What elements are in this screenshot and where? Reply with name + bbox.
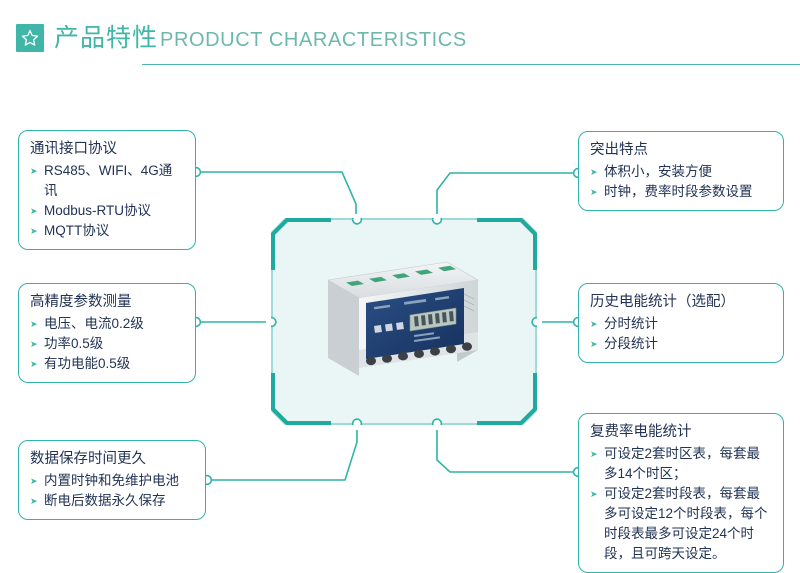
- info-box-communication[interactable]: 通讯接口协议 RS485、WIFI、4G通讯 Modbus-RTU协议 MQTT…: [18, 130, 196, 250]
- info-box-tariff[interactable]: 复费率电能统计 可设定2套时区表，每套最多14个时区； 可设定2套时段表，每套最…: [578, 413, 784, 573]
- page-header: 产品特性 PRODUCT CHARACTERISTICS: [16, 20, 784, 60]
- info-box-highlights[interactable]: 突出特点 体积小，安装方便 时钟，费率时段参数设置: [578, 131, 784, 211]
- bullet-item: 功率0.5级: [30, 334, 185, 354]
- frame-node-left: [271, 318, 276, 327]
- info-box-title: 数据保存时间更久: [30, 449, 195, 470]
- info-box-title: 复费率电能统计: [590, 422, 773, 443]
- info-box-title: 突出特点: [590, 140, 773, 161]
- bullet-item: 时钟，费率时段参数设置: [590, 182, 773, 202]
- star-badge-icon: [16, 24, 44, 52]
- frame-node-top-right: [433, 218, 442, 224]
- bullet-item: 断电后数据永久保存: [30, 491, 195, 511]
- info-box-bullets: 分时统计 分段统计: [590, 314, 773, 354]
- info-box-bullets: 内置时钟和免维护电池 断电后数据永久保存: [30, 471, 195, 511]
- bullet-item: MQTT协议: [30, 221, 185, 241]
- info-box-bullets: 体积小，安装方便 时钟，费率时段参数设置: [590, 162, 773, 202]
- info-box-history[interactable]: 历史电能统计（选配） 分时统计 分段统计: [578, 283, 784, 363]
- din-rail-energy-meter-image: [318, 258, 490, 382]
- page-title-cn: 产品特性: [54, 20, 158, 56]
- bullet-item: 可设定2套时区表，每套最多14个时区；: [590, 444, 773, 484]
- bullet-item: 分段统计: [590, 334, 773, 354]
- info-box-bullets: RS485、WIFI、4G通讯 Modbus-RTU协议 MQTT协议: [30, 161, 185, 241]
- bullet-item: 电压、电流0.2级: [30, 314, 185, 334]
- bullet-item: 有功电能0.5级: [30, 354, 185, 374]
- bullet-item: 体积小，安装方便: [590, 162, 773, 182]
- bullet-item: RS485、WIFI、4G通讯: [30, 161, 185, 201]
- info-box-accuracy[interactable]: 高精度参数测量 电压、电流0.2级 功率0.5级 有功电能0.5级: [18, 283, 196, 383]
- info-box-bullets: 电压、电流0.2级 功率0.5级 有功电能0.5级: [30, 314, 185, 374]
- info-box-title: 通讯接口协议: [30, 139, 185, 160]
- bullet-item: 内置时钟和免维护电池: [30, 471, 195, 491]
- frame-node-bottom-right: [433, 419, 442, 425]
- product-characteristics-page: 产品特性 PRODUCT CHARACTERISTICS: [0, 0, 800, 573]
- info-box-title: 历史电能统计（选配）: [590, 292, 773, 313]
- header-divider: [142, 64, 800, 65]
- bullet-item: 分时统计: [590, 314, 773, 334]
- page-title-en: PRODUCT CHARACTERISTICS: [160, 25, 467, 55]
- frame-node-right: [532, 318, 537, 327]
- info-box-storage[interactable]: 数据保存时间更久 内置时钟和免维护电池 断电后数据永久保存: [18, 440, 206, 520]
- frame-node-top-left: [353, 218, 362, 224]
- frame-node-bottom-left: [353, 419, 362, 425]
- info-box-title: 高精度参数测量: [30, 292, 185, 313]
- bullet-item: Modbus-RTU协议: [30, 201, 185, 221]
- bullet-item: 可设定2套时段表，每套最多可设定12个时段表，每个时段表最多可设定24个时段，且…: [590, 484, 773, 564]
- info-box-bullets: 可设定2套时区表，每套最多14个时区； 可设定2套时段表，每套最多可设定12个时…: [590, 444, 773, 564]
